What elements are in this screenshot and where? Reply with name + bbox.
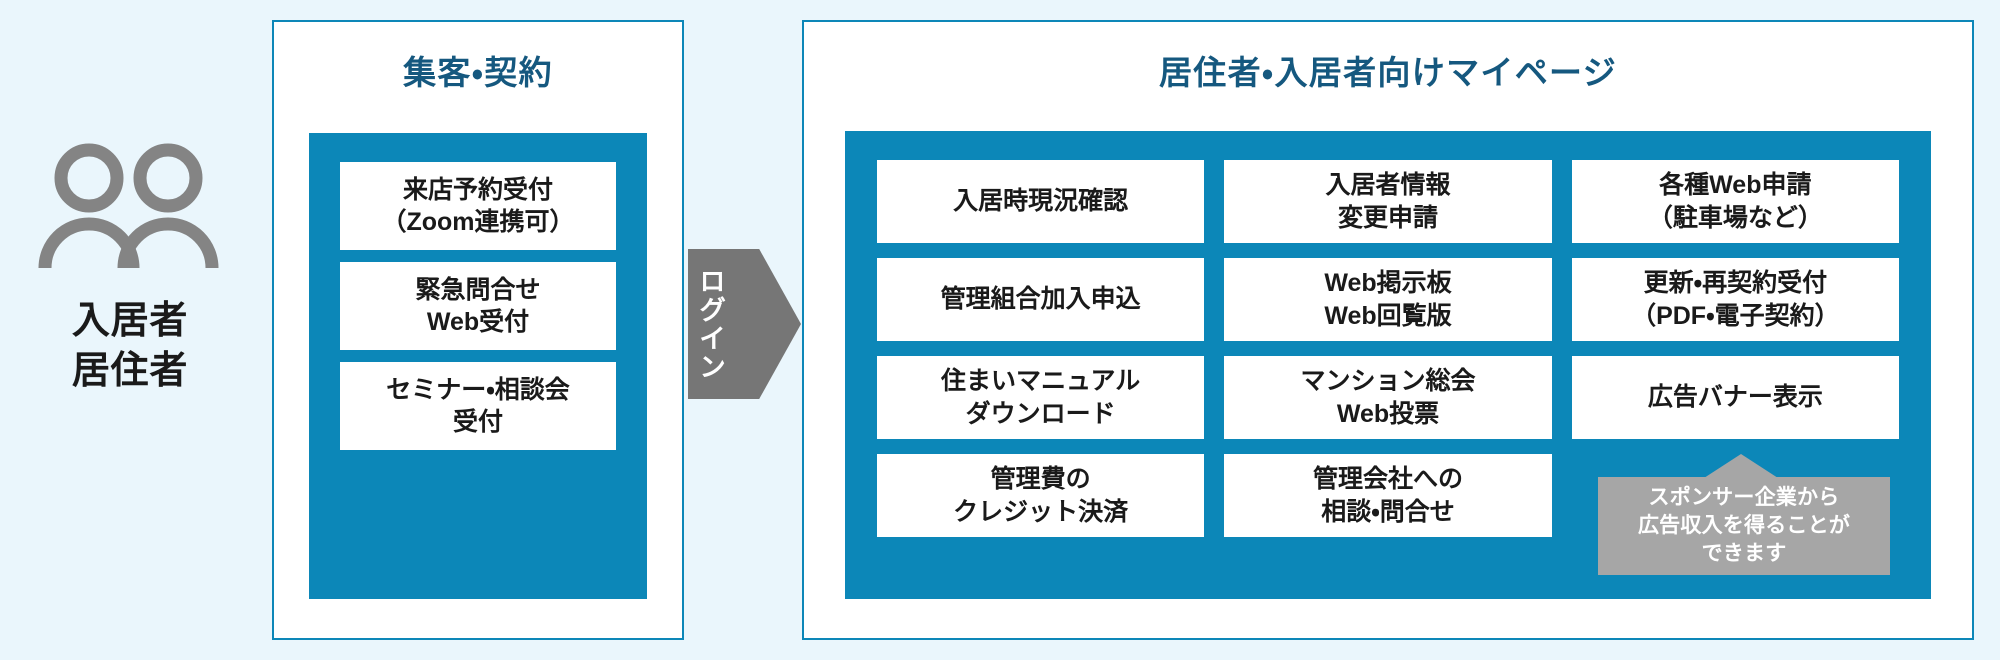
panel-right-title: 居住者・入居者向けマイページ <box>804 46 1972 94</box>
login-arrow: ログイン <box>688 249 801 399</box>
actor-label-line1: 入居者 <box>72 296 188 346</box>
card-consult-management-company[interactable]: 管理会社への 相談・問合せ <box>1224 454 1551 537</box>
actor-label: 入居者 居住者 <box>72 296 188 396</box>
diagram-canvas: 入居者 居住者 集客・契約 来店予約受付 （Zoom連携可） 緊急問合せ Web… <box>0 0 2000 660</box>
card-ad-banner-display[interactable]: 広告バナー表示 <box>1572 356 1899 439</box>
card-seminar-consultation[interactable]: セミナー・相談会 受付 <box>340 362 616 450</box>
card-emergency-inquiry[interactable]: 緊急問合せ Web受付 <box>340 262 616 350</box>
card-move-in-status-check[interactable]: 入居時現況確認 <box>877 160 1204 243</box>
card-web-bulletin-board[interactable]: Web掲示板 Web回覧版 <box>1224 258 1551 341</box>
login-arrow-label: ログイン <box>696 267 723 381</box>
ad-revenue-tooltip-text: スポンサー企業から 広告収入を得ることが できます <box>1638 484 1850 568</box>
card-mansion-general-meeting-vote[interactable]: マンション総会 Web投票 <box>1224 356 1551 439</box>
two-people-icon <box>35 140 225 270</box>
actor-label-line2: 居住者 <box>72 346 188 396</box>
card-resident-info-change[interactable]: 入居者情報 変更申請 <box>1224 160 1551 243</box>
panel-left-title: 集客・契約 <box>274 46 682 94</box>
card-renewal-recontract[interactable]: 更新・再契約受付 （PDF・電子契約） <box>1572 258 1899 341</box>
actor-group: 入居者 居住者 <box>0 140 260 396</box>
card-housing-manual-download[interactable]: 住まいマニュアル ダウンロード <box>877 356 1204 439</box>
tooltip-arrow-icon <box>1704 454 1778 478</box>
ad-revenue-tooltip: スポンサー企業から 広告収入を得ることが できます <box>1598 477 1890 575</box>
panel-acquisition-contract: 集客・契約 来店予約受付 （Zoom連携可） 緊急問合せ Web受付 セミナー・… <box>272 20 684 640</box>
panel-left-bluebox: 来店予約受付 （Zoom連携可） 緊急問合せ Web受付 セミナー・相談会 受付 <box>309 133 647 599</box>
card-management-fee-credit-payment[interactable]: 管理費の クレジット決済 <box>877 454 1204 537</box>
left-card-stack: 来店予約受付 （Zoom連携可） 緊急問合せ Web受付 セミナー・相談会 受付 <box>340 162 616 450</box>
card-management-association-join[interactable]: 管理組合加入申込 <box>877 258 1204 341</box>
card-web-applications[interactable]: 各種Web申請 （駐車場など） <box>1572 160 1899 243</box>
card-store-visit-reservation[interactable]: 来店予約受付 （Zoom連携可） <box>340 162 616 250</box>
